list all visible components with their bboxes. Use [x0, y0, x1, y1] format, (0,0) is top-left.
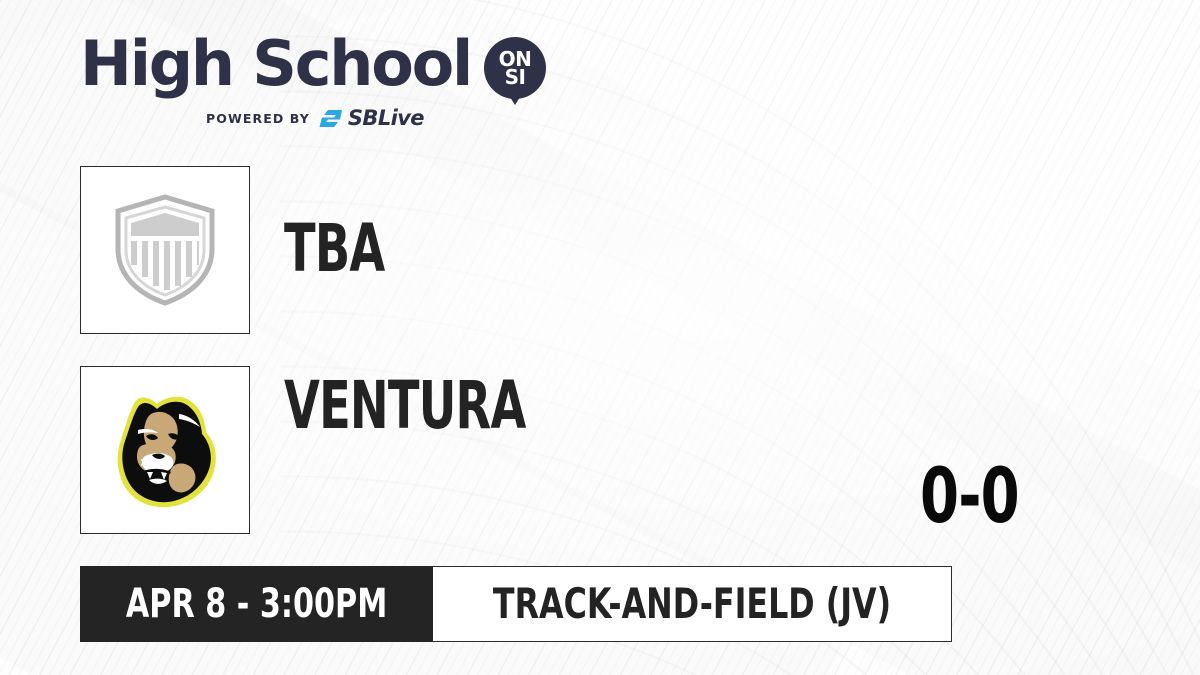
location-pin-icon: ON SI — [484, 37, 546, 99]
brand-title: High School — [80, 35, 471, 93]
game-datetime-text: APR 8 - 3:00PM — [126, 584, 387, 624]
powered-by-row: POWERED BY SBLive — [206, 106, 546, 130]
team-logo-box-2 — [80, 366, 250, 534]
cougar-head-icon — [105, 388, 225, 512]
team-name-2: VENTURA — [284, 373, 526, 439]
matchup-graphic-card: High School ON SI POWERED BY SBLive — [0, 0, 1200, 675]
game-sport-text: TRACK-AND-FIELD (JV) — [493, 583, 891, 625]
team-name-1: TBA — [284, 216, 384, 282]
pin-label-group: ON SI — [484, 37, 546, 99]
sblive-logo: SBLive — [319, 106, 424, 130]
powered-by-label: POWERED BY — [206, 111, 310, 126]
team-logo-box-1 — [80, 166, 250, 334]
brand-header: High School ON SI POWERED BY SBLive — [80, 35, 546, 130]
game-info-bar: APR 8 - 3:00PM TRACK-AND-FIELD (JV) — [80, 566, 952, 642]
brand-logo-row: High School ON SI — [80, 35, 546, 99]
sblive-s-mark-icon — [319, 108, 345, 129]
placeholder-shield-icon — [111, 194, 219, 306]
pin-label-si: SI — [505, 69, 526, 86]
score-display: 0-0 — [920, 458, 1019, 534]
sblive-wordmark: SBLive — [348, 106, 424, 130]
game-sport-block: TRACK-AND-FIELD (JV) — [433, 566, 952, 642]
game-datetime-block: APR 8 - 3:00PM — [80, 566, 433, 642]
